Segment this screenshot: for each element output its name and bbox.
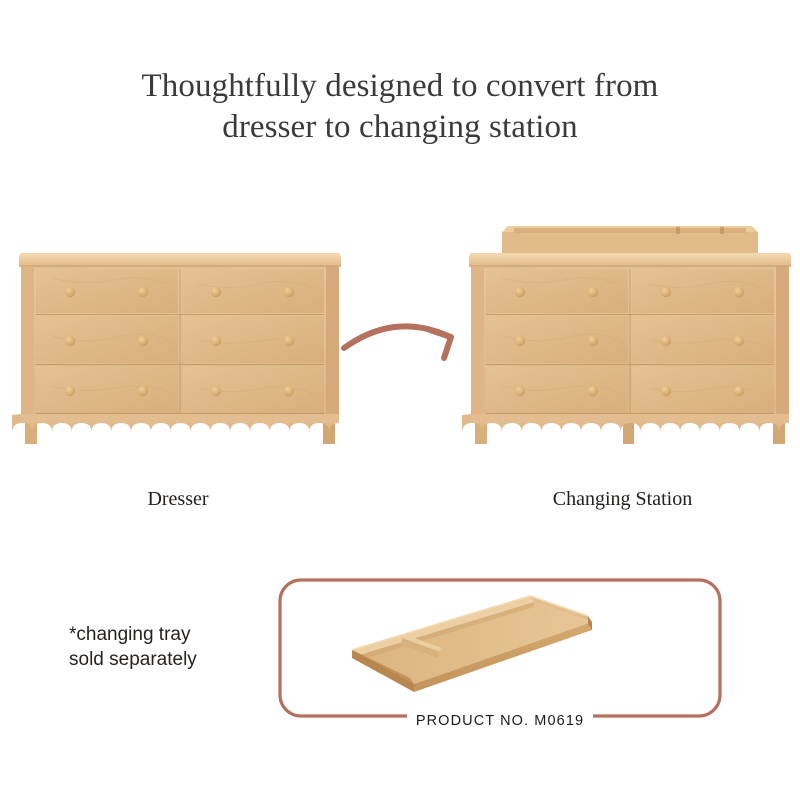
disclaimer-note: *changing tray sold separately bbox=[69, 622, 279, 672]
changing-tray-illustration bbox=[338, 588, 606, 696]
headline-line-1: Thoughtfully designed to convert from bbox=[142, 68, 659, 104]
infographic-canvas: Thoughtfully designed to convert from dr… bbox=[0, 0, 800, 800]
page-title: Thoughtfully designed to convert from dr… bbox=[0, 66, 800, 148]
caption-dresser: Dresser bbox=[78, 488, 278, 511]
dresser-illustration bbox=[12, 248, 348, 450]
headline-line-2: dresser to changing station bbox=[0, 107, 800, 148]
caption-changing-station: Changing Station bbox=[520, 488, 725, 511]
note-line-2: sold separately bbox=[69, 647, 279, 672]
note-line-1: *changing tray bbox=[69, 622, 279, 647]
product-callout-box: PRODUCT NO. M0619 bbox=[278, 578, 722, 718]
changing-station-illustration bbox=[462, 214, 798, 450]
product-number-label: PRODUCT NO. M0619 bbox=[278, 713, 722, 729]
convert-arrow-icon bbox=[338, 306, 466, 378]
